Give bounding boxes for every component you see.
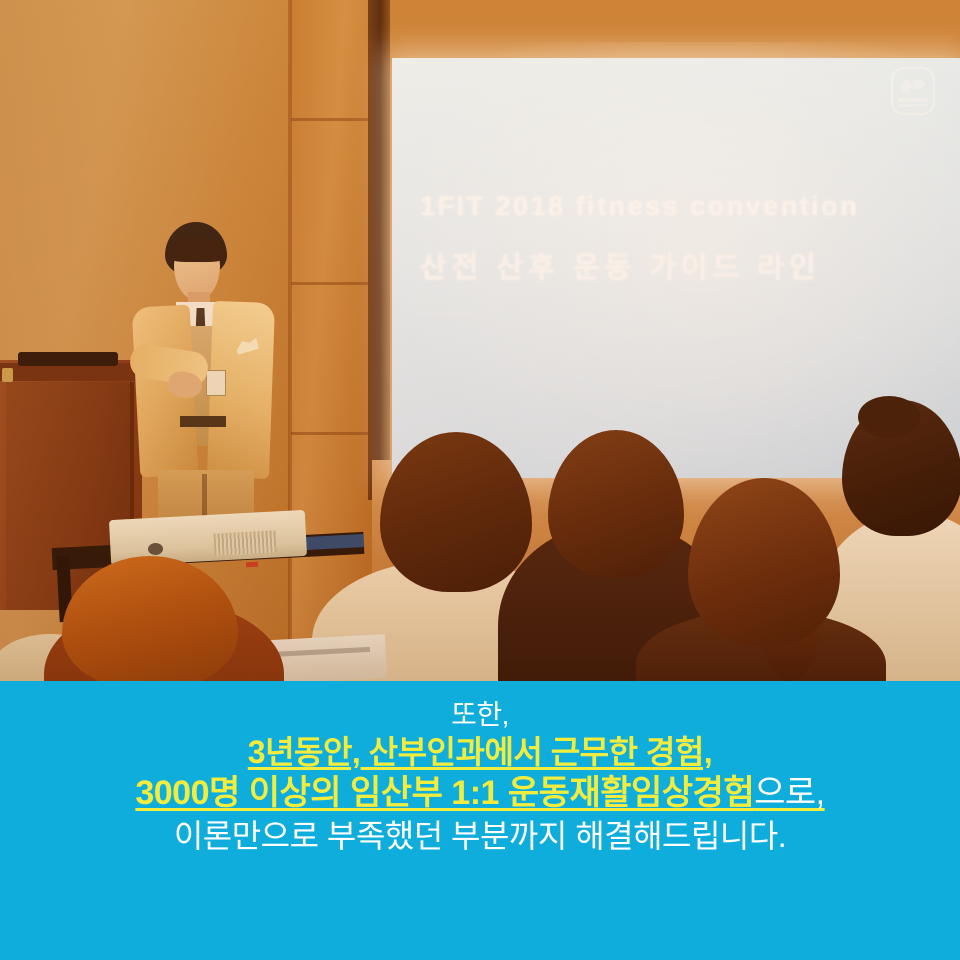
slide-text-block: 1FIT 2018 fitness convention 산전 산후 운동 가이… [420, 190, 920, 320]
caption-line-2: 3년동안, 산부인과에서 근무한 경험, [0, 733, 960, 773]
projector-vents [213, 530, 276, 555]
screen-watermark-logo [890, 66, 936, 116]
caption-line-1: 또한, [0, 698, 960, 733]
audience-member-e-hair-bun [858, 396, 920, 438]
presenter-name-badge [206, 370, 226, 396]
wall-seam-1 [291, 118, 371, 121]
presenter-belt [180, 416, 226, 427]
caption-line-3-tail: 으로, [754, 774, 825, 812]
projector-led [246, 562, 258, 568]
promo-card: 1FIT 2018 fitness convention 산전 산후 운동 가이… [0, 0, 960, 960]
caption-line-3-highlight: 3000명 이상의 임산부 1:1 운동재활임상경험 [135, 774, 754, 812]
caption-line-4: 이론만으로 부족했던 부분까지 해결해드립니다. [0, 817, 960, 857]
slide-title-ko: 산전 산후 운동 가이드 라인 [420, 244, 920, 286]
caption-line-3: 3000명 이상의 임산부 1:1 운동재활임상경험으로, [0, 772, 960, 814]
slide-subtitle: ············ [420, 306, 920, 320]
slide-title-en: 1FIT 2018 fitness convention [420, 190, 920, 224]
podium-cup [2, 368, 13, 382]
event-photo: 1FIT 2018 fitness convention 산전 산후 운동 가이… [0, 0, 960, 681]
caption-block: 또한, 3년동안, 산부인과에서 근무한 경험, 3000명 이상의 임산부 1… [0, 681, 960, 856]
wall-seam-3 [291, 432, 371, 435]
microphone [18, 352, 118, 366]
caption-band: 또한, 3년동안, 산부인과에서 근무한 경험, 3000명 이상의 임산부 1… [0, 681, 960, 960]
wall-seam-2 [291, 282, 371, 285]
wall-dark-edge [368, 0, 390, 500]
presenter-figure [118, 222, 298, 542]
